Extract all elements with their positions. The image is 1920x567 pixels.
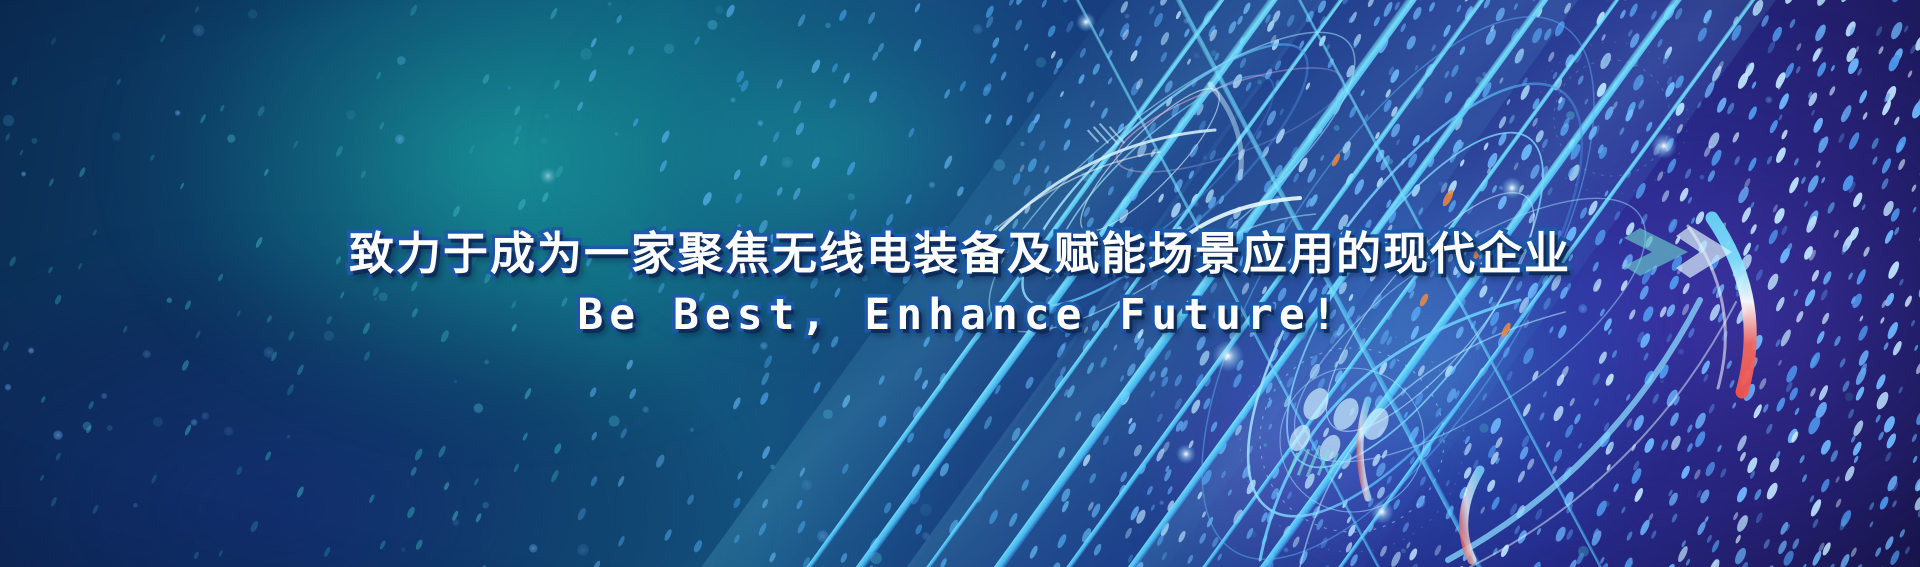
hero-banner: 致力于成为一家聚焦无线电装备及赋能场景应用的现代企业 Be Best, Enha… <box>0 0 1920 567</box>
tech-line-art <box>0 0 1920 567</box>
